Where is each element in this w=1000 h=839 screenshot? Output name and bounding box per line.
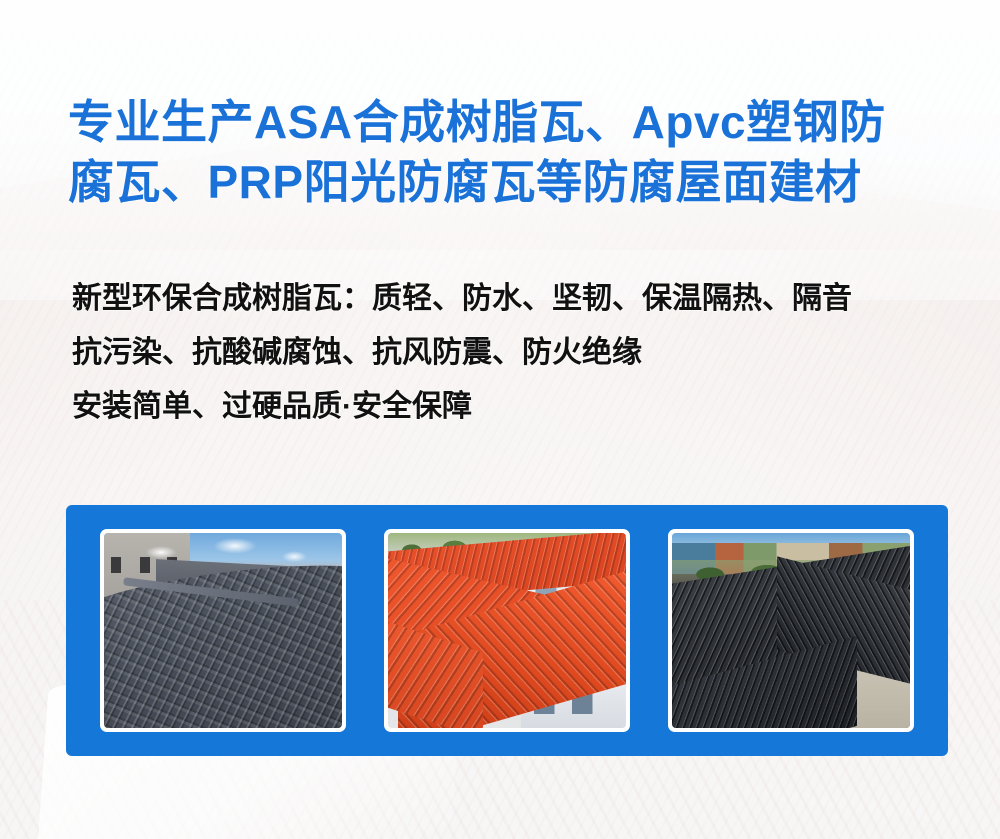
feature-list: 新型环保合成树脂瓦：质轻、防水、坚韧、保温隔热、隔音 抗污染、抗酸碱腐蚀、抗风防… [72,272,962,434]
headline-line-2: 腐瓦、PRP阳光防腐瓦等防腐屋面建材 [68,152,948,212]
product-banner: 专业生产ASA合成树脂瓦、Apvc塑钢防 腐瓦、PRP阳光防腐瓦等防腐屋面建材 … [0,0,1000,839]
black-resin-tile-roof-photo [672,533,910,728]
photo-frame-3[interactable] [668,529,914,732]
headline: 专业生产ASA合成树脂瓦、Apvc塑钢防 腐瓦、PRP阳光防腐瓦等防腐屋面建材 [68,92,948,212]
headline-line-1: 专业生产ASA合成树脂瓦、Apvc塑钢防 [68,92,948,152]
photo-frame-1[interactable] [100,529,346,732]
feature-line-2: 抗污染、抗酸碱腐蚀、抗风防震、防火绝缘 [72,326,962,380]
photo-gallery-panel [66,505,948,756]
grey-resin-tile-roof-photo [104,533,342,728]
feature-line-3: 安装简单、过硬品质·安全保障 [72,380,962,434]
feature-line-1: 新型环保合成树脂瓦：质轻、防水、坚韧、保温隔热、隔音 [72,272,962,326]
photo-frame-2[interactable] [384,529,630,732]
banner-content: 专业生产ASA合成树脂瓦、Apvc塑钢防 腐瓦、PRP阳光防腐瓦等防腐屋面建材 … [0,0,1000,839]
red-resin-tile-roof-photo [388,533,626,728]
